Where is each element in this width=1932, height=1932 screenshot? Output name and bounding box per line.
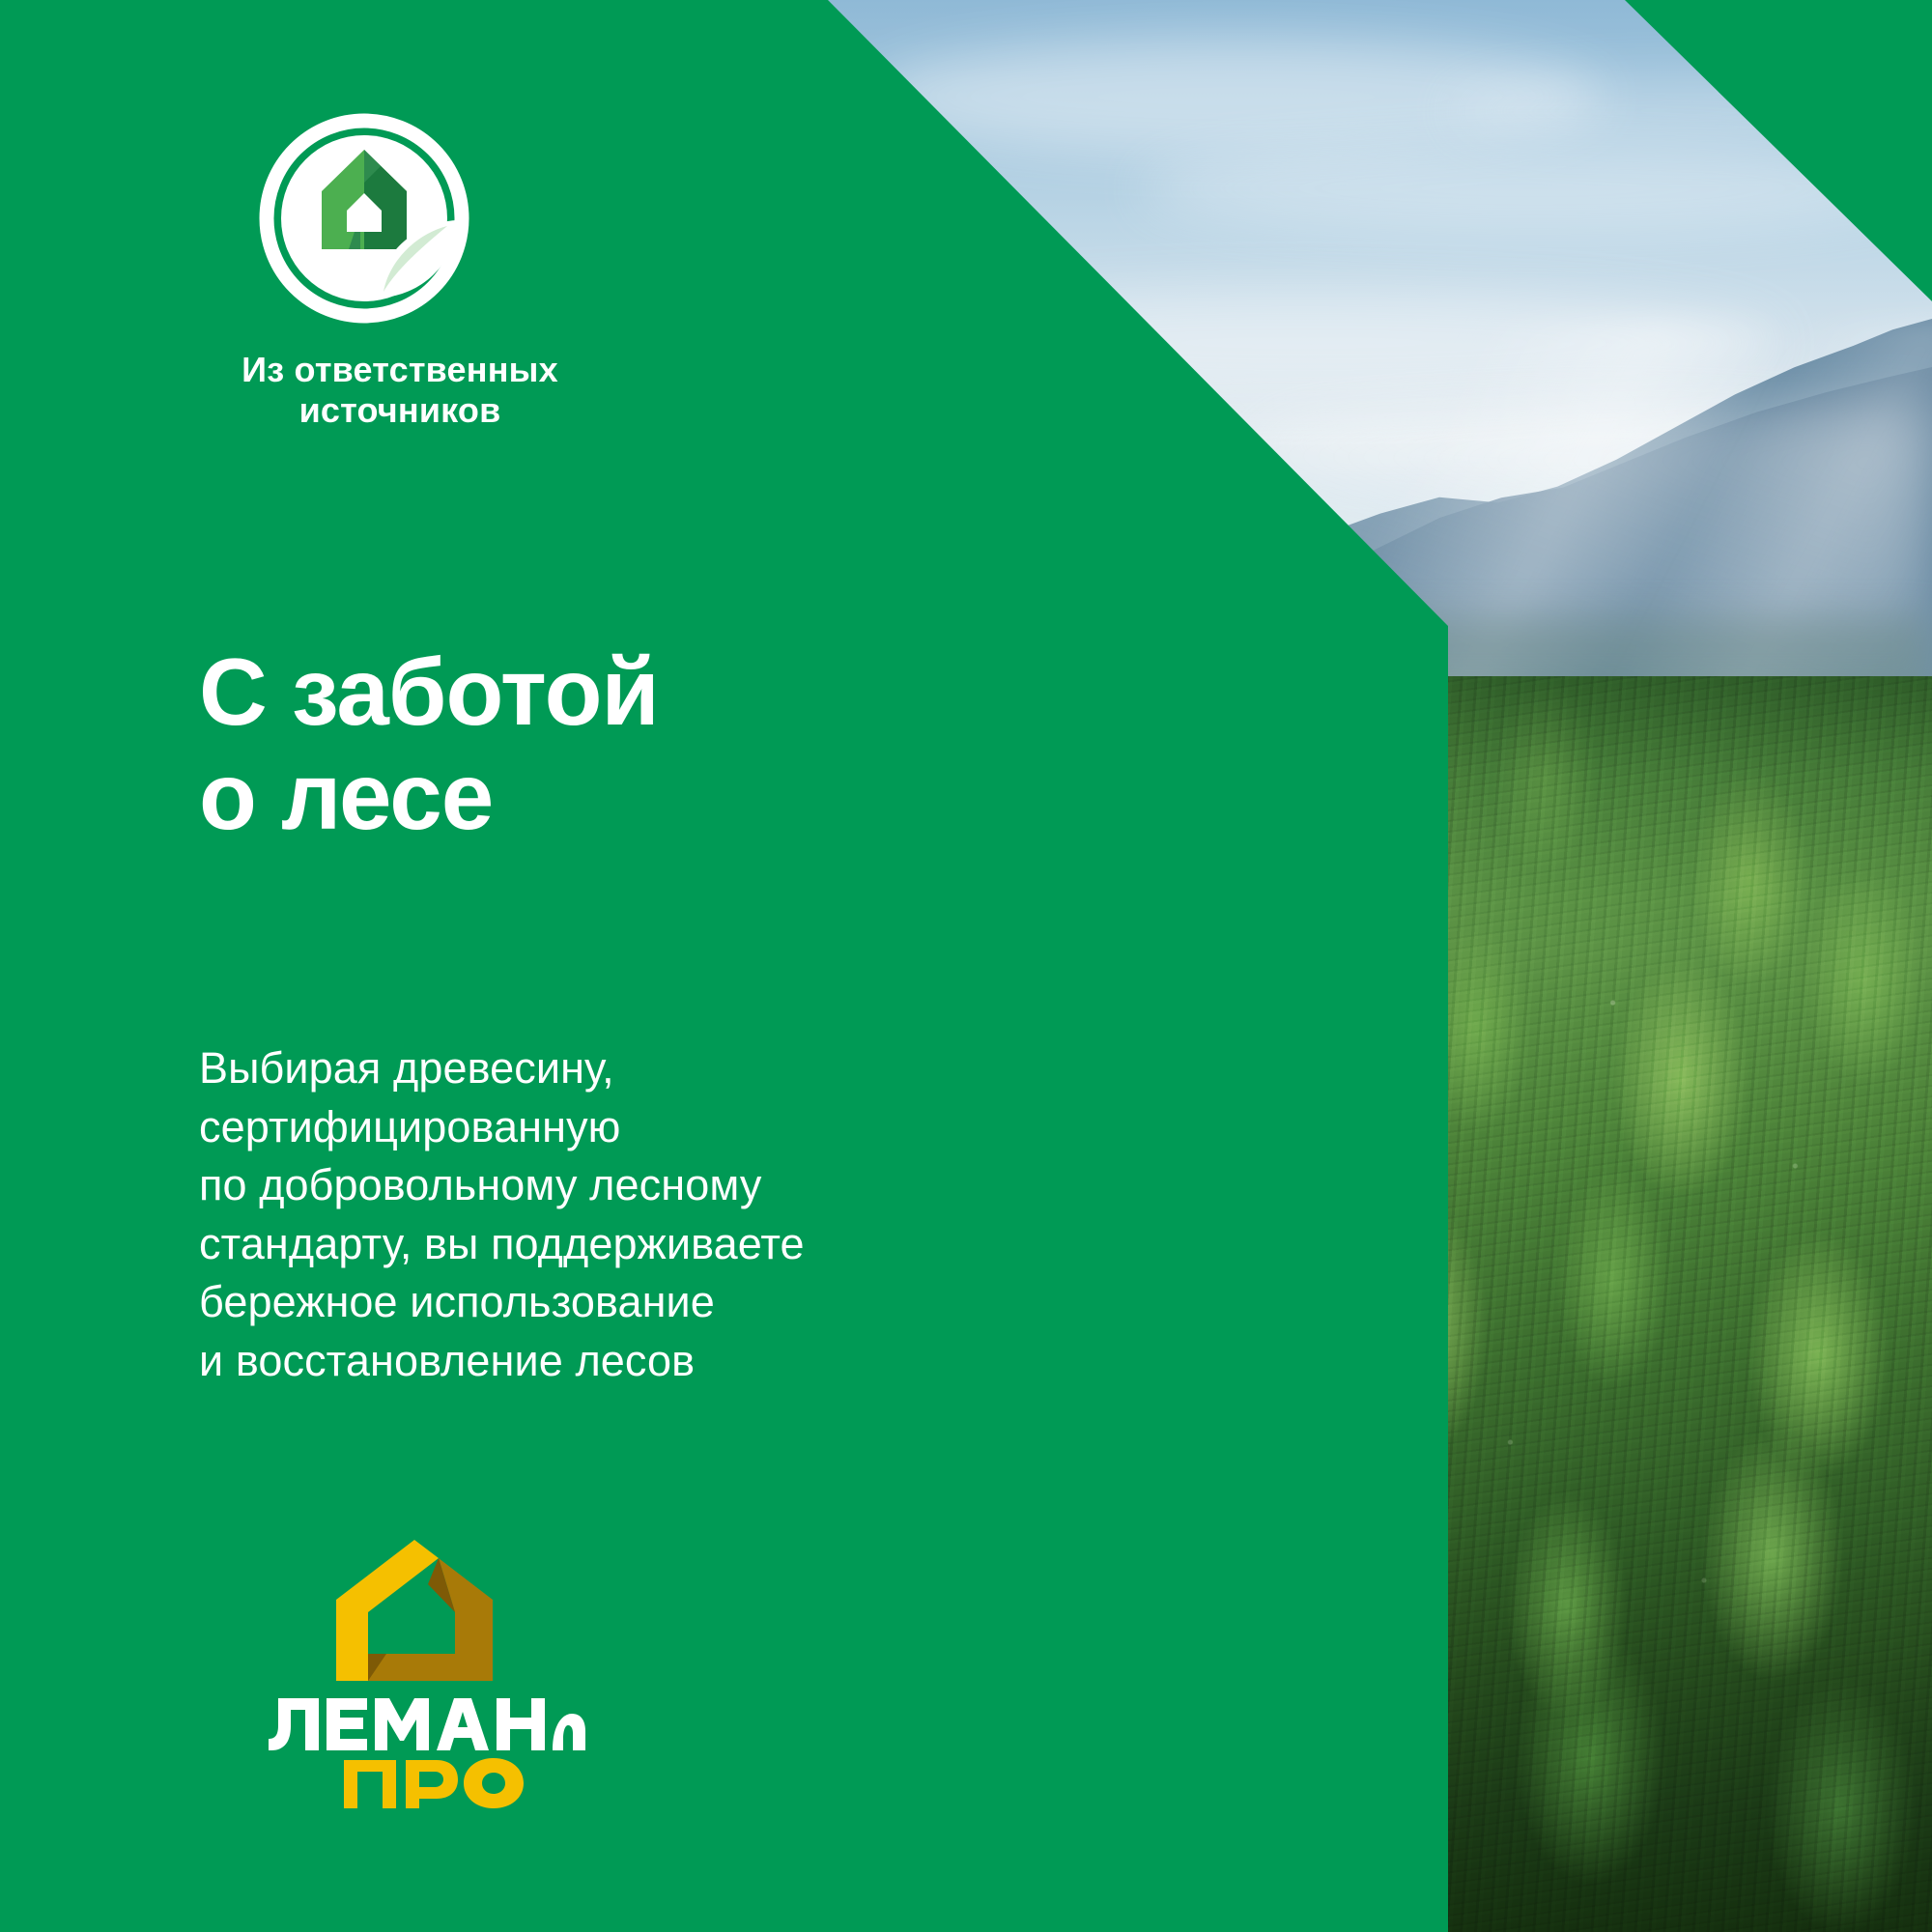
- content-layer: Из ответственных источников С заботой о …: [0, 0, 1932, 1932]
- badge-caption: Из ответственных источников: [216, 350, 583, 431]
- body-paragraph: Выбирая древесину, сертифицированную по …: [199, 1039, 805, 1390]
- page-title: С заботой о лесе: [199, 640, 659, 849]
- lemana-pro-logo: [267, 1540, 595, 1808]
- responsible-sources-badge: Из ответственных источников: [241, 108, 676, 431]
- responsible-sources-emblem-icon: [254, 108, 474, 328]
- lemana-pro-submark: [342, 1758, 526, 1808]
- lemana-house-icon: [330, 1540, 498, 1681]
- poster-canvas: Из ответственных источников С заботой о …: [0, 0, 1932, 1932]
- lemana-wordmark: [267, 1696, 585, 1750]
